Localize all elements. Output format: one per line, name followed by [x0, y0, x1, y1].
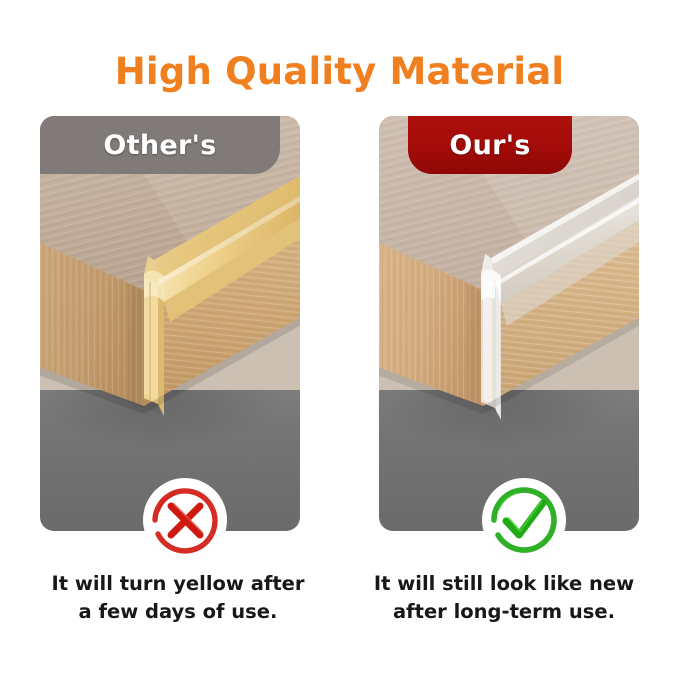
badge-others: Other's	[40, 116, 280, 174]
x-mark-glyph	[143, 478, 227, 562]
comparison-panel-other	[40, 116, 300, 531]
table-illustration-ours	[379, 116, 639, 531]
caption-other-line-1: It will turn yellow after	[18, 570, 338, 598]
caption-ours-line-2: after long-term use.	[344, 598, 664, 626]
table-illustration-other	[40, 116, 300, 531]
x-mark-icon	[143, 478, 227, 562]
caption-ours: It will still look like new after long-t…	[344, 570, 664, 625]
caption-other: It will turn yellow after a few days of …	[18, 570, 338, 625]
table-corner-yellowed-svg	[40, 116, 300, 531]
caption-other-line-2: a few days of use.	[18, 598, 338, 626]
caption-ours-line-1: It will still look like new	[344, 570, 664, 598]
check-mark-glyph	[482, 478, 566, 562]
comparison-panel-ours	[379, 116, 639, 531]
product-comparison-poster: High Quality Material	[0, 0, 679, 679]
table-corner-clear-svg	[379, 116, 639, 531]
badge-ours: Our's	[408, 116, 572, 174]
check-mark-icon	[482, 478, 566, 562]
page-title: High Quality Material	[0, 50, 679, 93]
